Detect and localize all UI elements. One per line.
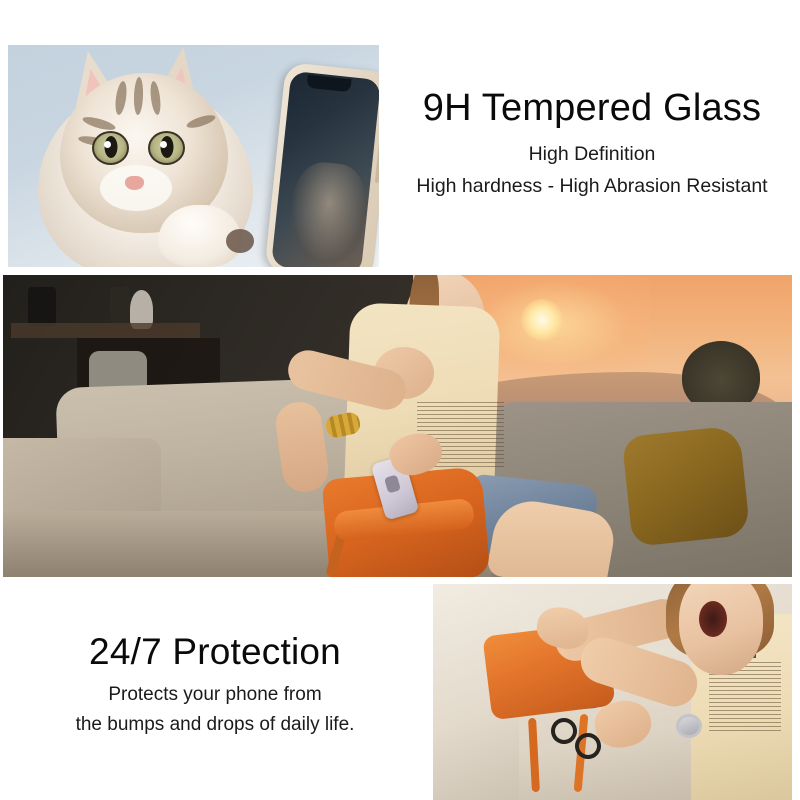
sofa-sunset-image xyxy=(3,275,792,577)
cat-scene-background xyxy=(8,45,379,267)
bottom-subline-2: the bumps and drops of daily life. xyxy=(10,714,420,736)
bag-drop-image xyxy=(433,584,792,800)
cat-eye-glint xyxy=(104,141,111,148)
top-headline: 9H Tempered Glass xyxy=(386,88,798,129)
shelf xyxy=(11,323,200,338)
olive-pillow xyxy=(621,425,750,547)
wristwatch xyxy=(676,714,702,738)
cat-paw-pad xyxy=(226,229,254,253)
shelf-object xyxy=(110,287,131,323)
cat-eye-left xyxy=(92,131,129,165)
cat-eye-glint xyxy=(160,141,167,148)
bottom-headline: 24/7 Protection xyxy=(10,632,420,672)
bottom-text-block: 24/7 Protection Protects your phone from… xyxy=(10,632,420,736)
top-subline-2: High hardness - High Abrasion Resistant xyxy=(386,175,798,198)
top-subline-1: High Definition xyxy=(386,143,798,166)
cat-eye-right xyxy=(148,131,185,165)
top-text-block: 9H Tempered Glass High Definition High h… xyxy=(386,88,798,198)
cat-phone-image xyxy=(8,45,379,267)
bottom-subline-1: Protects your phone from xyxy=(10,684,420,706)
shelf-object xyxy=(28,287,57,326)
product-infographic-page: 9H Tempered Glass High Definition High h… xyxy=(0,0,800,800)
cat-nose xyxy=(125,176,144,190)
